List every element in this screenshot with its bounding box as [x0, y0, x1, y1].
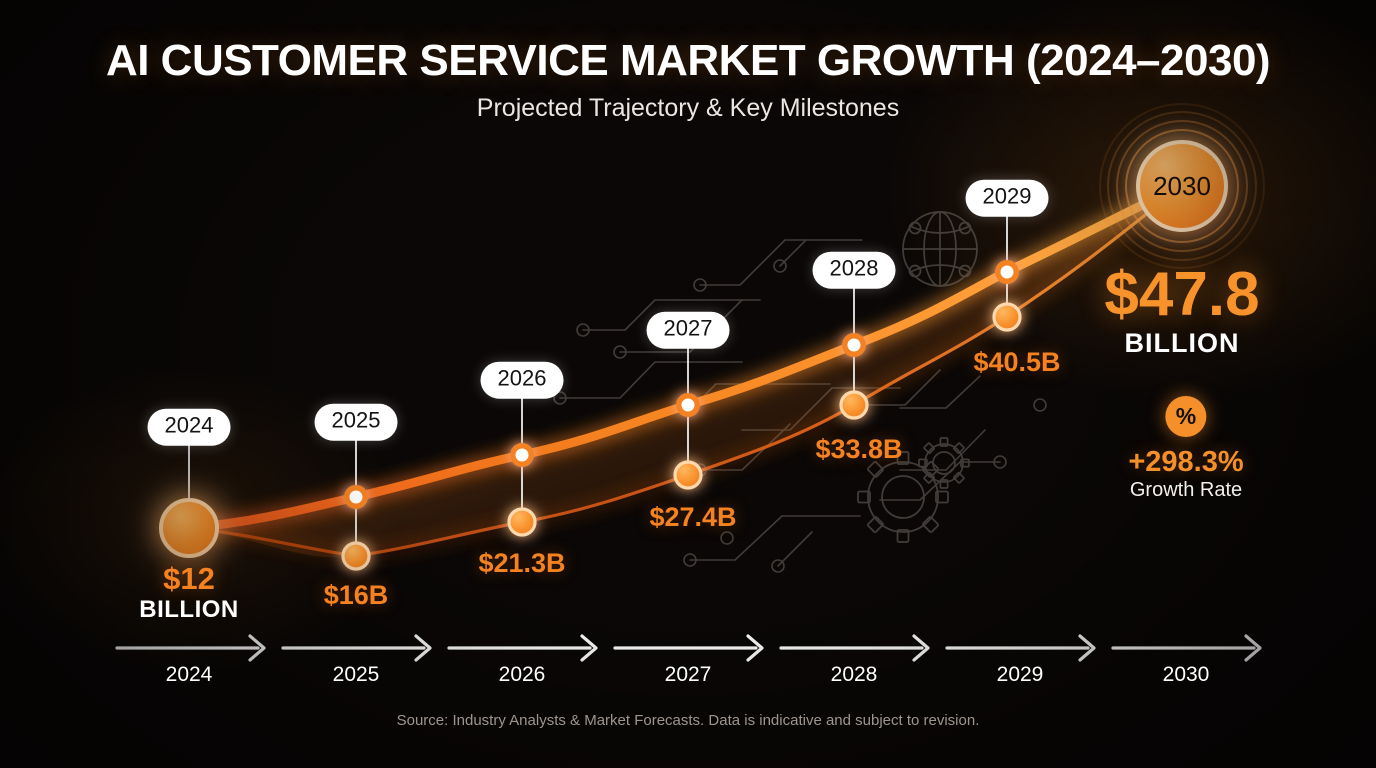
timeline-axis	[117, 636, 1260, 660]
growth-rate-caption: Growth Rate	[1128, 477, 1243, 504]
start-value-callout: $12 BILLION	[139, 563, 239, 623]
axis-year-2025: 2025	[333, 663, 380, 687]
axis-year-2028: 2028	[831, 663, 878, 687]
axis-year-2027: 2027	[665, 663, 712, 687]
source-note: Source: Industry Analysts & Market Forec…	[0, 712, 1376, 729]
percent-icon: %	[1165, 396, 1206, 437]
page-title: AI CUSTOMER SERVICE MARKET GROWTH (2024–…	[0, 36, 1376, 86]
value-label-2027: $27.4B	[649, 502, 736, 533]
axis-year-2024: 2024	[166, 663, 213, 687]
growth-rate-value: +298.3%	[1128, 447, 1243, 477]
year-pill-2025[interactable]: 2025	[315, 404, 398, 441]
year-pill-2029[interactable]: 2029	[966, 180, 1049, 217]
value-label-2026: $21.3B	[478, 548, 565, 579]
year-pill-2026[interactable]: 2026	[481, 362, 564, 399]
value-label-2029: $40.5B	[973, 347, 1060, 378]
start-value: $12	[139, 563, 239, 596]
year-pill-2024[interactable]: 2024	[148, 409, 231, 446]
value-label-2025: $16B	[324, 580, 389, 611]
value-label-2028: $33.8B	[815, 434, 902, 465]
header: AI CUSTOMER SERVICE MARKET GROWTH (2024–…	[0, 0, 1376, 123]
year-pill-2027[interactable]: 2027	[647, 312, 730, 349]
end-value: $47.8	[1104, 265, 1259, 326]
page-subtitle: Projected Trajectory & Key Milestones	[0, 94, 1376, 123]
end-value-callout: $47.8 BILLION	[1104, 265, 1259, 361]
year-pill-2028[interactable]: 2028	[813, 252, 896, 289]
axis-year-2029: 2029	[997, 663, 1044, 687]
start-unit: BILLION	[139, 596, 239, 624]
growth-rate-block: % +298.3% Growth Rate	[1128, 396, 1243, 504]
start-node-2024	[161, 500, 217, 556]
infographic-canvas: 2030 AI CUSTOMER SERVICE MARKET GROWTH (…	[0, 0, 1376, 768]
end-node-2030: 2030	[1100, 104, 1264, 268]
end-unit: BILLION	[1104, 326, 1259, 361]
end-node-year-label: 2030	[1153, 171, 1211, 201]
axis-year-2030: 2030	[1163, 663, 1210, 687]
axis-year-2026: 2026	[499, 663, 546, 687]
